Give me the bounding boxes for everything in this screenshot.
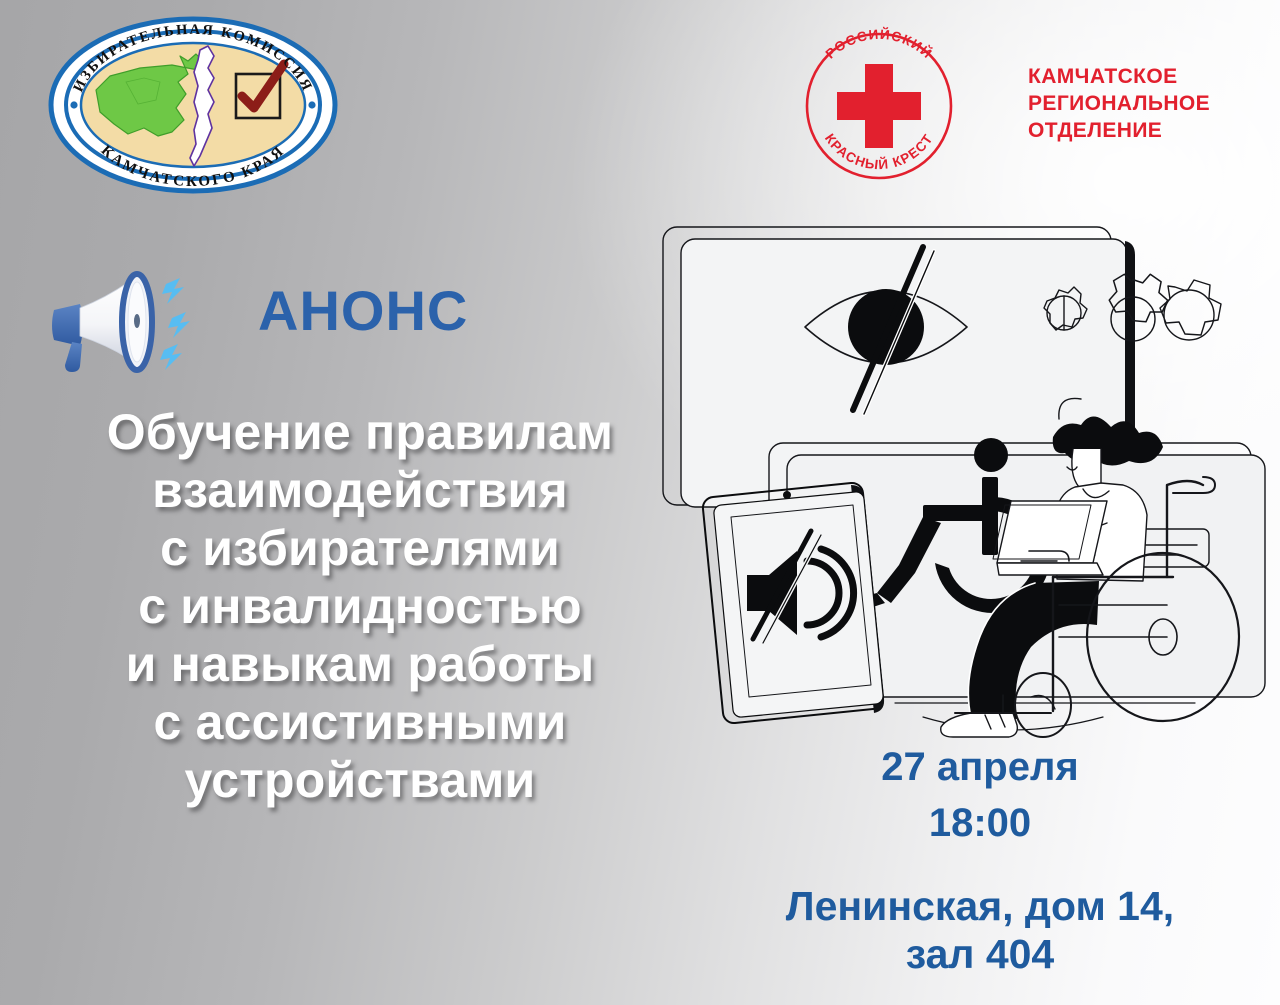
red-cross-caption-line-3: ОТДЕЛЕНИЕ [1028, 118, 1263, 145]
gear-icon-large-hub [1164, 290, 1214, 340]
rkk-top-arc-text: РОССИЙСКИЙ [823, 27, 936, 62]
red-cross-caption: КАМЧАТСКОЕ РЕГИОНАЛЬНОЕ ОТДЕЛЕНИЕ [1028, 64, 1263, 145]
event-date: 27 апреля [700, 742, 1260, 793]
headline-line-7: устройствами [40, 751, 680, 809]
red-cross-caption-line-1: КАМЧАТСКОЕ [1028, 64, 1263, 91]
event-location-line-1: Ленинская, дом 14, [700, 883, 1260, 931]
accessibility-illustration [655, 205, 1280, 725]
headline-line-2: взаимодействия [40, 461, 680, 519]
headline-line-3: с избирателями [40, 519, 680, 577]
poster-canvas: ИЗБИРАТЕЛЬНАЯ КОМИССИЯ КАМЧАТСКОГО КРАЯ … [0, 0, 1280, 1005]
headline-line-4: с инвалидностью [40, 577, 680, 635]
event-time: 18:00 [700, 793, 1260, 853]
headline-line-6: с ассистивными [40, 693, 680, 751]
page-title: Обучение правилам взаимодействия с избир… [40, 403, 680, 809]
event-details: 27 апреля 18:00 Ленинская, дом 14, зал 4… [700, 742, 1260, 978]
event-location: Ленинская, дом 14, зал 404 [700, 883, 1260, 978]
announce-label: АНОНС [258, 283, 468, 339]
headline-line-5: и навыкам работы [40, 635, 680, 693]
event-location-line-2: зал 404 [700, 931, 1260, 979]
megaphone-icon [46, 268, 196, 378]
svg-text:РОССИЙСКИЙ: РОССИЙСКИЙ [823, 27, 936, 62]
red-cross-logo: РОССИЙСКИЙ КРАСНЫЙ КРЕСТ [795, 22, 975, 187]
headline-line-1: Обучение правилам [40, 403, 680, 461]
election-commission-logo: ИЗБИРАТЕЛЬНАЯ КОМИССИЯ КАМЧАТСКОГО КРАЯ [48, 16, 338, 194]
red-cross-caption-line-2: РЕГИОНАЛЬНОЕ [1028, 91, 1263, 118]
